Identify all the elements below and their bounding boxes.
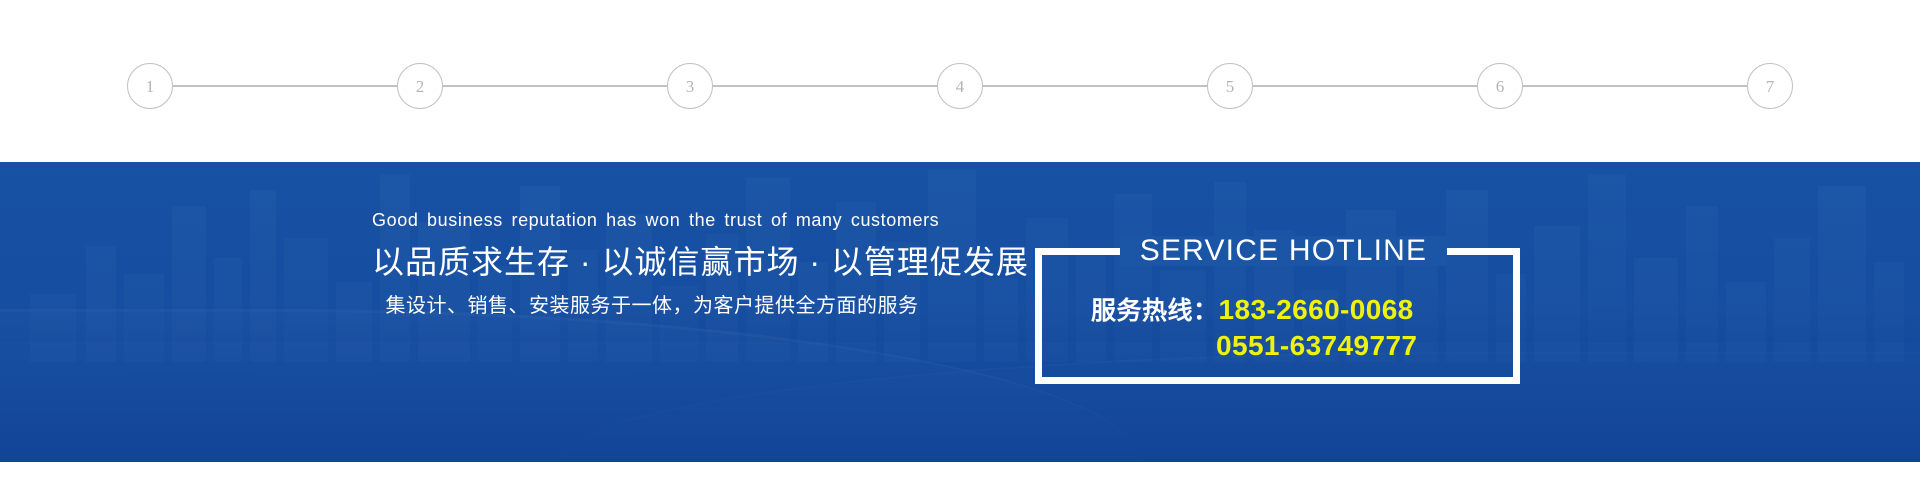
hotline-row-secondary: 0551-63749777 [1035, 328, 1520, 364]
step-connector-5-6 [1253, 85, 1477, 87]
step-label-4: 4 [956, 78, 965, 95]
step-node-5[interactable]: 5 [1207, 63, 1253, 109]
stepper-strip: 1 2 3 4 5 6 7 [0, 0, 1920, 162]
hotline-label: 服务热线： [1091, 295, 1219, 327]
step-connector-2-3 [443, 85, 667, 87]
step-connector-3-4 [713, 85, 937, 87]
step-connector-6-7 [1523, 85, 1747, 87]
slogan-chinese-headline: 以品质求生存 · 以诚信赢市场 · 以管理促发展 [372, 242, 932, 282]
step-node-3[interactable]: 3 [667, 63, 713, 109]
step-node-6[interactable]: 6 [1477, 63, 1523, 109]
step-connector-4-5 [983, 85, 1207, 87]
step-label-6: 6 [1496, 78, 1505, 95]
step-label-1: 1 [146, 78, 155, 95]
step-label-7: 7 [1766, 78, 1775, 95]
step-node-7[interactable]: 7 [1747, 63, 1793, 109]
slogan-chinese-subline: 集设计、销售、安装服务于一体，为客户提供全方面的服务 [372, 294, 932, 318]
hotline-numbers: 服务热线： 183-2660-0068 0551-63749777 [1035, 292, 1520, 364]
promo-banner: Good business reputation has won the tru… [0, 162, 1920, 462]
hotline-row-primary: 服务热线： 183-2660-0068 [1035, 292, 1520, 328]
step-label-2: 2 [416, 78, 425, 95]
step-connector-1-2 [173, 85, 397, 87]
banner-content: Good business reputation has won the tru… [0, 162, 1920, 462]
hotline-title: SERVICE HOTLINE [1120, 236, 1447, 266]
step-node-4[interactable]: 4 [937, 63, 983, 109]
hotline-number-primary[interactable]: 183-2660-0068 [1219, 292, 1414, 328]
hotline-number-secondary[interactable]: 0551-63749777 [1216, 328, 1417, 364]
step-node-2[interactable]: 2 [397, 63, 443, 109]
step-node-1[interactable]: 1 [127, 63, 173, 109]
step-label-3: 3 [686, 78, 695, 95]
slogan-english: Good business reputation has won the tru… [372, 210, 932, 232]
step-label-5: 5 [1226, 78, 1235, 95]
slogan-block: Good business reputation has won the tru… [372, 210, 932, 318]
page-stepper: 1 2 3 4 5 6 7 [127, 63, 1793, 109]
